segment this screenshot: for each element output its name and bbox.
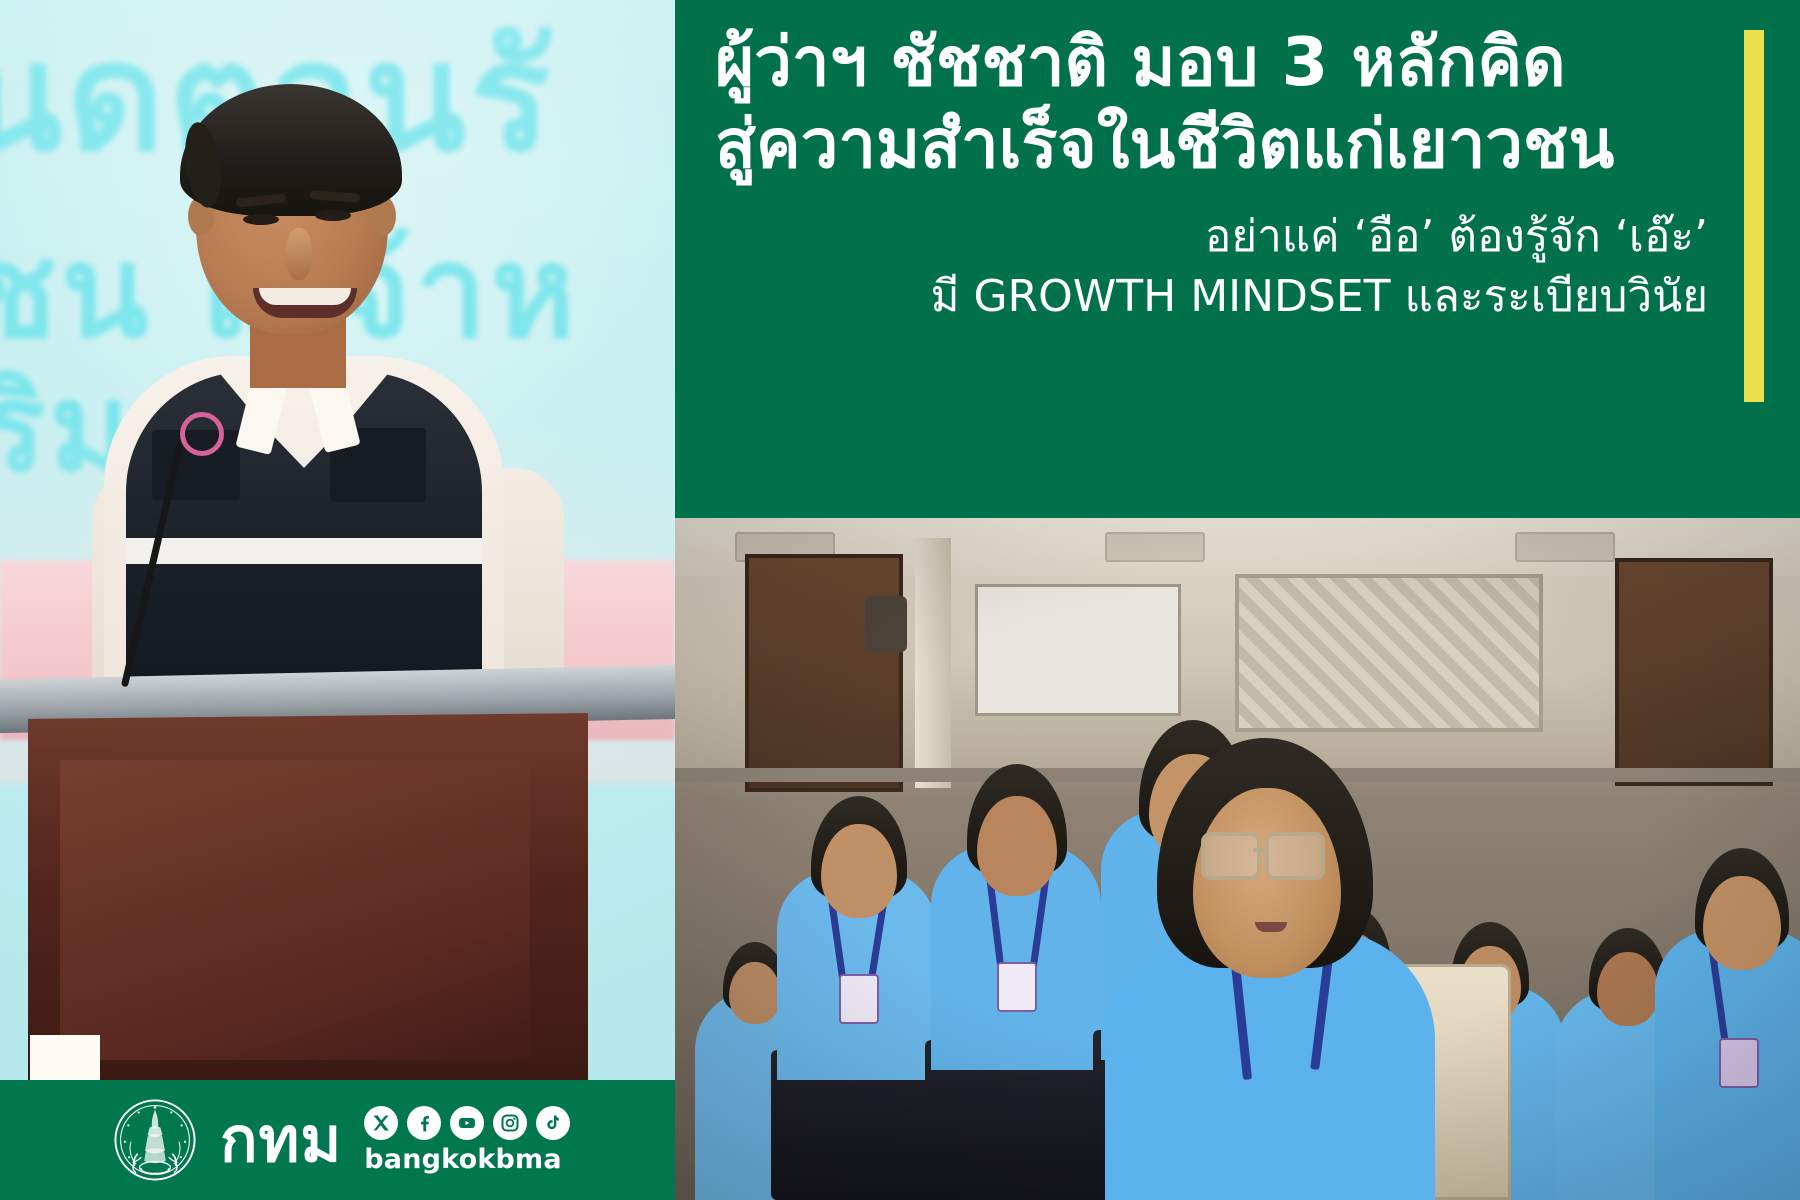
brand-footer-bar: กทม — [0, 1080, 675, 1200]
eyeglasses — [1201, 832, 1337, 880]
bangkok-metropolitan-administration-seal — [112, 1097, 198, 1183]
youth-audience-photo — [675, 518, 1800, 1200]
instagram-icon[interactable] — [493, 1106, 527, 1140]
headline-panel: ผู้ว่าฯ ชัชชาติ มอบ 3 หลักคิด สู่ความสำเ… — [675, 0, 1800, 518]
headline-text-block: ผู้ว่าฯ ชัชชาติ มอบ 3 หลักคิด สู่ความสำเ… — [715, 22, 1708, 326]
tiktok-icon[interactable] — [536, 1106, 570, 1140]
youtube-icon[interactable] — [450, 1106, 484, 1140]
speaker-teeth — [259, 288, 351, 305]
audience-member — [925, 730, 1105, 1200]
podium-paper — [30, 1035, 100, 1080]
headline-line-1: ผู้ว่าฯ ชัชชาติ มอบ 3 หลักคิด — [715, 22, 1708, 104]
speaker-eye-left — [243, 214, 279, 225]
headline-line-2: สู่ความสำเร็จในชีวิตแก่เยาวชน — [715, 104, 1708, 186]
left-column: นดตอนรั ชน แ จ้าห ริม วั — [0, 0, 675, 1200]
audience-member-foreground — [1105, 730, 1435, 1200]
ceiling-vent — [1515, 532, 1615, 562]
social-handle-label: bangkokbma — [364, 1144, 570, 1175]
social-icons-row — [364, 1106, 570, 1140]
wall-speaker — [865, 596, 907, 652]
audience-member — [1655, 800, 1800, 1200]
governor-at-podium-photo: นดตอนรั ชน แ จ้าห ริม วั — [0, 0, 675, 1080]
room-door-right — [1615, 558, 1773, 786]
audience-member — [771, 770, 941, 1200]
vest-reflective-stripe — [126, 538, 482, 564]
speaker-nose — [286, 228, 312, 280]
microphone-head — [180, 412, 224, 456]
social-block: bangkokbma — [364, 1106, 570, 1175]
facebook-icon[interactable] — [407, 1106, 441, 1140]
speaker-mouth — [253, 288, 357, 318]
accent-bar — [1744, 30, 1764, 402]
subhead-line-2: มี GROWTH MINDSET และระเบียบวินัย — [715, 267, 1708, 326]
x-icon[interactable] — [364, 1106, 398, 1140]
speaker-eye-right — [315, 210, 351, 221]
org-abbrev-label: กทม — [220, 1109, 342, 1171]
news-graphic-card: นดตอนรั ชน แ จ้าห ริม วั — [0, 0, 1800, 1200]
subhead-line-1: อย่าแค่ ‘อือ’ ต้องรู้จัก ‘เอ๊ะ’ — [715, 207, 1708, 266]
room-door-left — [745, 554, 903, 792]
podium-face — [60, 760, 530, 1060]
subhead-text-block: อย่าแค่ ‘อือ’ ต้องรู้จัก ‘เอ๊ะ’ มี GROWT… — [715, 207, 1708, 326]
ceiling-vent — [1105, 532, 1205, 562]
